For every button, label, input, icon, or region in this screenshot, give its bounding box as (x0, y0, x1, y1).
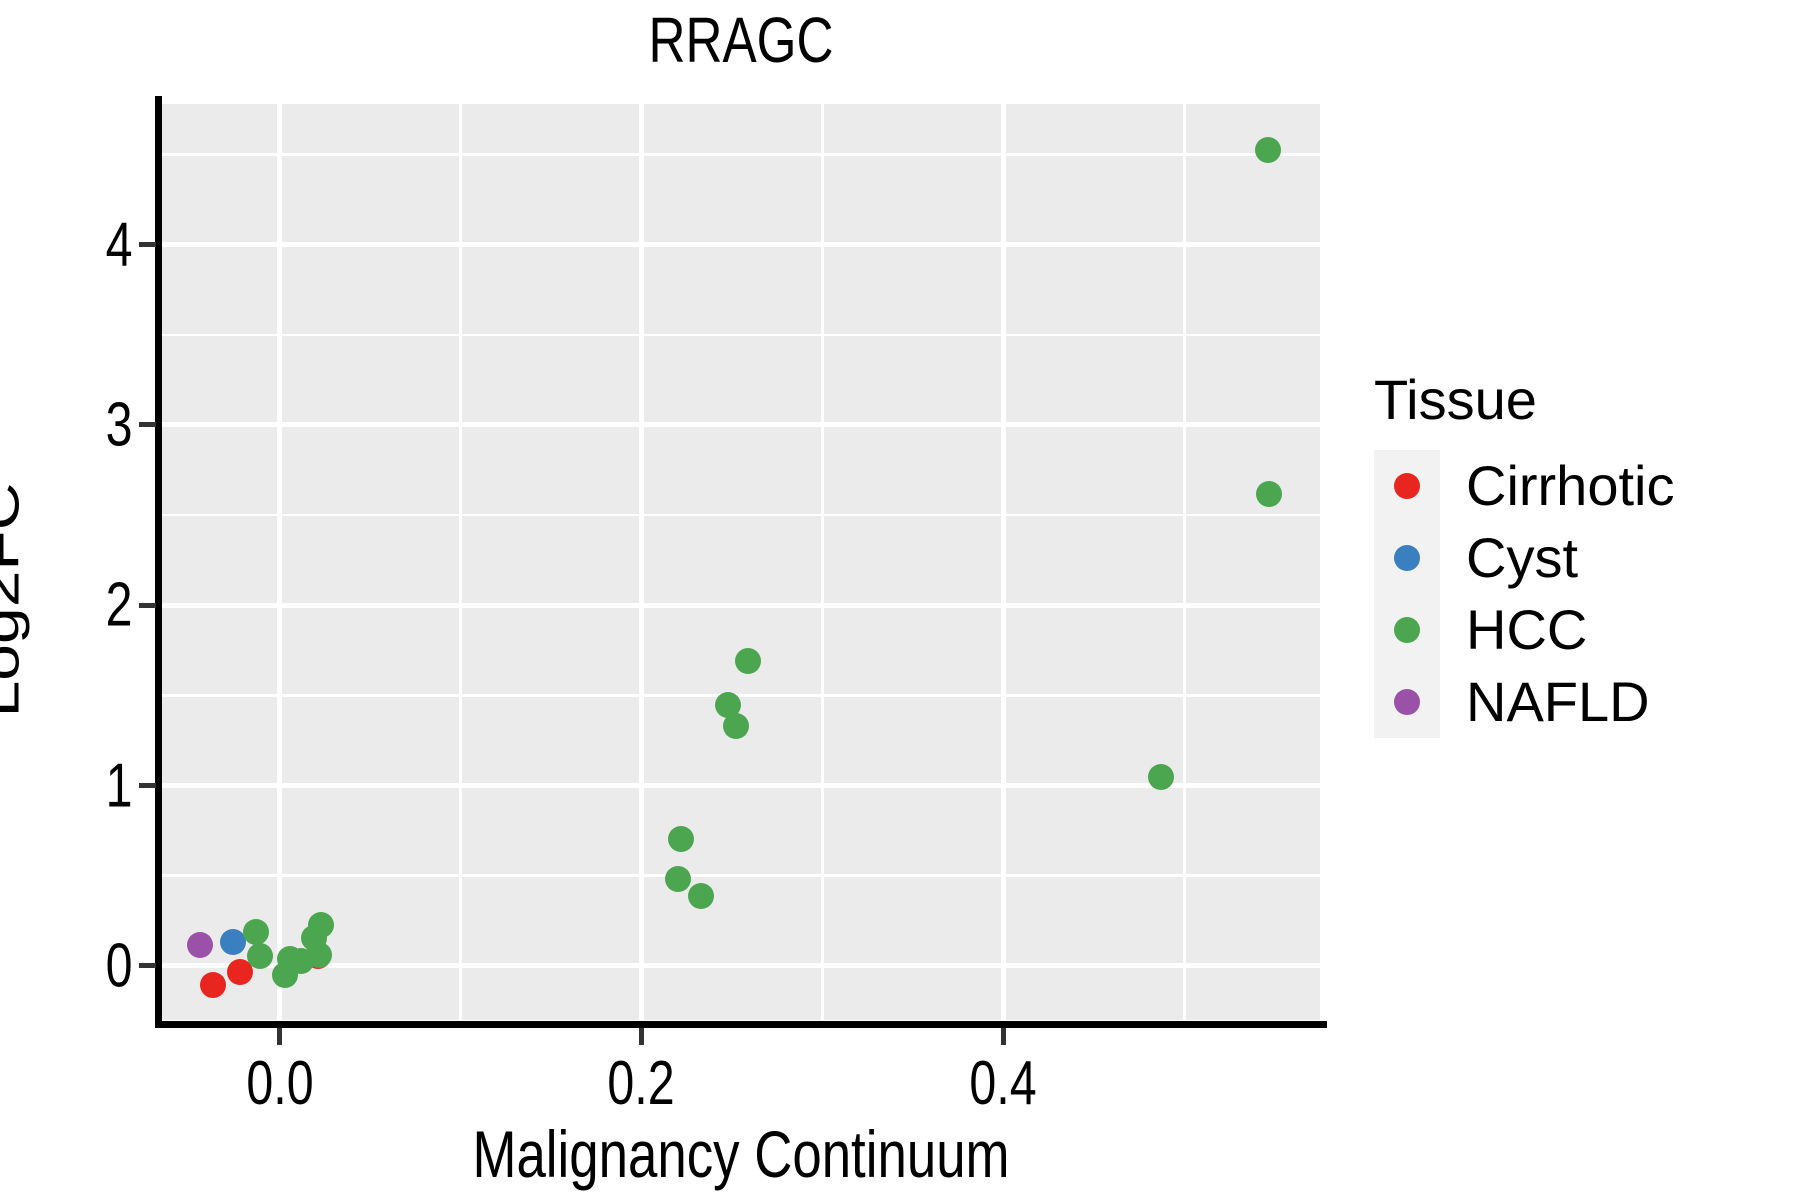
y-axis-tick-label: 0 (105, 930, 132, 1001)
data-point (1255, 137, 1281, 163)
gridline-major-horizontal (162, 783, 1320, 788)
data-point (187, 932, 213, 958)
y-axis-tick-label: 2 (105, 570, 132, 641)
y-axis-tick (139, 783, 156, 788)
y-axis-title: Log2FC (0, 483, 30, 718)
gridline-major-horizontal (162, 422, 1320, 427)
legend-key-box (1374, 522, 1440, 594)
y-axis-tick (139, 422, 156, 427)
page-title: RRAGC (278, 8, 1204, 72)
data-point (665, 866, 691, 892)
gridline-major-horizontal (162, 603, 1320, 608)
plot-panel (162, 104, 1320, 1020)
legend-key-box (1374, 450, 1440, 522)
x-axis-title: Malignancy Continuum (278, 1116, 1204, 1192)
x-axis-tick-label: 0.2 (608, 1048, 675, 1119)
data-point (688, 883, 714, 909)
x-axis-tick (277, 1028, 282, 1045)
gridline-minor-horizontal (162, 694, 1320, 697)
data-point (200, 972, 226, 998)
x-axis-tick-label: 0.4 (970, 1048, 1037, 1119)
data-point (306, 942, 332, 968)
y-axis-tick-label: 1 (105, 750, 132, 821)
y-axis-tick (139, 242, 156, 247)
data-point (723, 713, 749, 739)
gridline-minor-horizontal (162, 514, 1320, 517)
data-point (1148, 764, 1174, 790)
x-axis-tick-label: 0.0 (246, 1048, 313, 1119)
data-point (272, 962, 298, 988)
legend-dot-icon (1394, 545, 1420, 571)
data-point (247, 943, 273, 969)
legend-dot-icon (1394, 617, 1420, 643)
legend-item-label: Cyst (1466, 530, 1578, 586)
legend-item-cirrhotic[interactable]: Cirrhotic (1374, 450, 1774, 522)
legend-item-label: HCC (1466, 602, 1587, 658)
legend-item-label: NAFLD (1466, 674, 1650, 730)
x-axis-tick (1001, 1028, 1006, 1045)
legend-items: CirrhoticCystHCCNAFLD (1374, 450, 1774, 738)
y-axis-tick-label: 3 (105, 389, 132, 460)
chart-figure: RRAGC 012340.00.20.4 Malignancy Continuu… (0, 0, 1800, 1200)
y-axis-line (155, 96, 162, 1028)
legend-dot-icon (1394, 689, 1420, 715)
legend: Tissue CirrhoticCystHCCNAFLD (1374, 372, 1774, 738)
x-axis-line (155, 1021, 1327, 1028)
gridline-minor-horizontal (162, 334, 1320, 337)
data-point (243, 919, 269, 945)
gridline-minor-horizontal (162, 874, 1320, 877)
legend-item-cyst[interactable]: Cyst (1374, 522, 1774, 594)
data-point (668, 826, 694, 852)
legend-key-box (1374, 666, 1440, 738)
y-axis-tick (139, 963, 156, 968)
data-point (220, 929, 246, 955)
x-axis-tick (639, 1028, 644, 1045)
data-point (735, 648, 761, 674)
y-axis-tick-label: 4 (105, 209, 132, 280)
legend-key-box (1374, 594, 1440, 666)
y-axis-tick (139, 603, 156, 608)
gridline-major-horizontal (162, 242, 1320, 247)
legend-item-label: Cirrhotic (1466, 458, 1674, 514)
legend-title: Tissue (1374, 372, 1774, 428)
gridline-major-horizontal (162, 963, 1320, 968)
legend-dot-icon (1394, 473, 1420, 499)
legend-item-nafld[interactable]: NAFLD (1374, 666, 1774, 738)
data-point (1256, 481, 1282, 507)
legend-item-hcc[interactable]: HCC (1374, 594, 1774, 666)
gridline-minor-horizontal (162, 153, 1320, 156)
